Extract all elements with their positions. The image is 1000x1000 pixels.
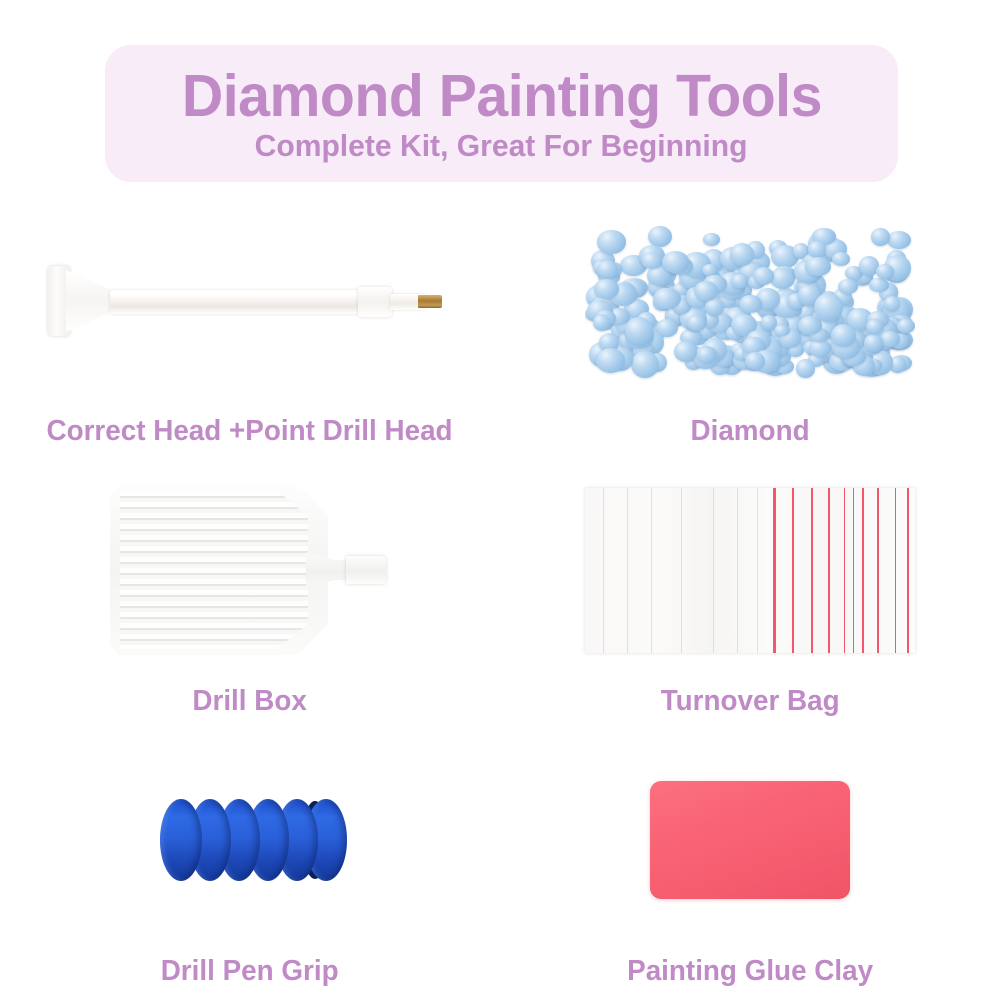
turnover-bag-image — [500, 470, 1000, 670]
product-label-pen-grip: Drill Pen Grip — [161, 954, 339, 988]
diamond-beads-image — [500, 200, 1000, 400]
product-item-glue-clay: Painting Glue Clay — [500, 740, 1000, 988]
diamond-bead-icon — [832, 252, 851, 266]
diamond-bead-icon — [887, 231, 911, 249]
tray-handle-shape — [346, 556, 386, 584]
diamond-bead-icon — [653, 288, 681, 310]
bag-fold-line — [603, 488, 604, 653]
page-subtitle: Complete Kit, Great For Beginning — [255, 129, 748, 163]
product-item-pen-grip: Drill Pen Grip — [0, 740, 500, 988]
glue-clay-illustration — [650, 781, 850, 899]
bag-zip-stripe — [877, 488, 879, 653]
pen-grip-illustration — [150, 793, 350, 888]
diamond-bead-icon — [641, 252, 663, 269]
pen-gold-tip-icon — [418, 295, 442, 308]
product-label-correct-head: Correct Head +Point Drill Head — [47, 414, 453, 448]
bag-zip-stripe — [773, 488, 776, 653]
bag-zip-stripe — [792, 488, 794, 653]
bag-zip-stripe — [862, 488, 864, 653]
product-item-drill-box: Drill Box — [0, 470, 500, 718]
diamond-bead-icon — [770, 268, 795, 289]
diamond-bead-icon — [674, 341, 697, 362]
bag-fold-line — [713, 488, 714, 653]
diamond-bead-icon — [745, 352, 765, 370]
diamond-bead-icon — [648, 226, 672, 247]
diamond-bead-icon — [884, 296, 900, 312]
diamond-bead-icon — [838, 279, 858, 294]
diamond-bead-icon — [702, 264, 718, 276]
bag-zip-stripe — [907, 488, 909, 653]
grip-segment — [160, 799, 202, 881]
diamond-bead-icon — [796, 359, 816, 378]
bag-zip-stripe — [811, 488, 813, 653]
bag-zip-stripe — [853, 488, 854, 653]
pen-collar-shape — [358, 287, 392, 317]
turnover-bag-illustration — [585, 488, 915, 653]
product-item-turnover-bag: Turnover Bag — [500, 470, 1000, 718]
bag-fold-line — [651, 488, 652, 653]
bag-fold-line — [627, 488, 628, 653]
product-grid: Correct Head +Point Drill Head Diamond D… — [0, 200, 1000, 1000]
diamond-bead-icon — [596, 348, 625, 373]
product-label-glue-clay: Painting Glue Clay — [627, 954, 873, 988]
product-item-correct-head: Correct Head +Point Drill Head — [0, 200, 500, 448]
diamond-beads-illustration — [585, 220, 915, 380]
tray-grooves-shape — [116, 491, 308, 649]
bag-fold-line — [757, 488, 758, 653]
diamond-bead-icon — [730, 243, 754, 266]
diamond-bead-icon — [871, 228, 890, 246]
diamond-bead-icon — [662, 251, 689, 273]
drill-pen-illustration — [40, 240, 460, 360]
product-item-diamond: Diamond — [500, 200, 1000, 448]
diamond-bead-icon — [597, 260, 618, 279]
pen-grip-image — [0, 740, 500, 940]
glue-clay-image — [500, 740, 1000, 940]
diamond-bead-icon — [594, 279, 619, 299]
bag-zip-stripe — [828, 488, 830, 653]
diamond-bead-icon — [631, 351, 659, 378]
bag-fold-line — [737, 488, 738, 653]
diamond-bead-icon — [814, 293, 843, 322]
header-banner: Diamond Painting Tools Complete Kit, Gre… — [105, 45, 898, 182]
product-label-drill-box: Drill Box — [193, 684, 307, 718]
page-title: Diamond Painting Tools — [181, 65, 821, 127]
diamond-bead-icon — [703, 233, 720, 246]
bag-zip-stripe — [895, 488, 896, 653]
diamond-bead-icon — [687, 315, 706, 331]
pen-barrel-shape — [110, 290, 388, 314]
diamond-bead-icon — [869, 278, 888, 293]
bag-zip-stripe — [844, 488, 845, 653]
diamond-bead-icon — [593, 314, 610, 331]
bag-fold-line — [681, 488, 682, 653]
diamond-bead-icon — [897, 319, 915, 333]
diamond-bead-icon — [774, 325, 790, 337]
diamond-bead-icon — [805, 257, 831, 276]
drill-box-image — [0, 470, 500, 670]
diamond-bead-icon — [739, 295, 762, 313]
diamond-bead-icon — [597, 230, 626, 253]
product-label-turnover-bag: Turnover Bag — [661, 684, 840, 718]
diamond-bead-icon — [831, 324, 855, 347]
diamond-bead-icon — [625, 317, 654, 345]
product-label-diamond: Diamond — [690, 414, 809, 448]
diamond-bead-icon — [866, 319, 884, 335]
drill-tray-illustration — [110, 485, 390, 655]
diamond-bead-icon — [694, 281, 718, 302]
drill-pen-image — [0, 200, 500, 400]
diamond-bead-icon — [753, 267, 774, 285]
